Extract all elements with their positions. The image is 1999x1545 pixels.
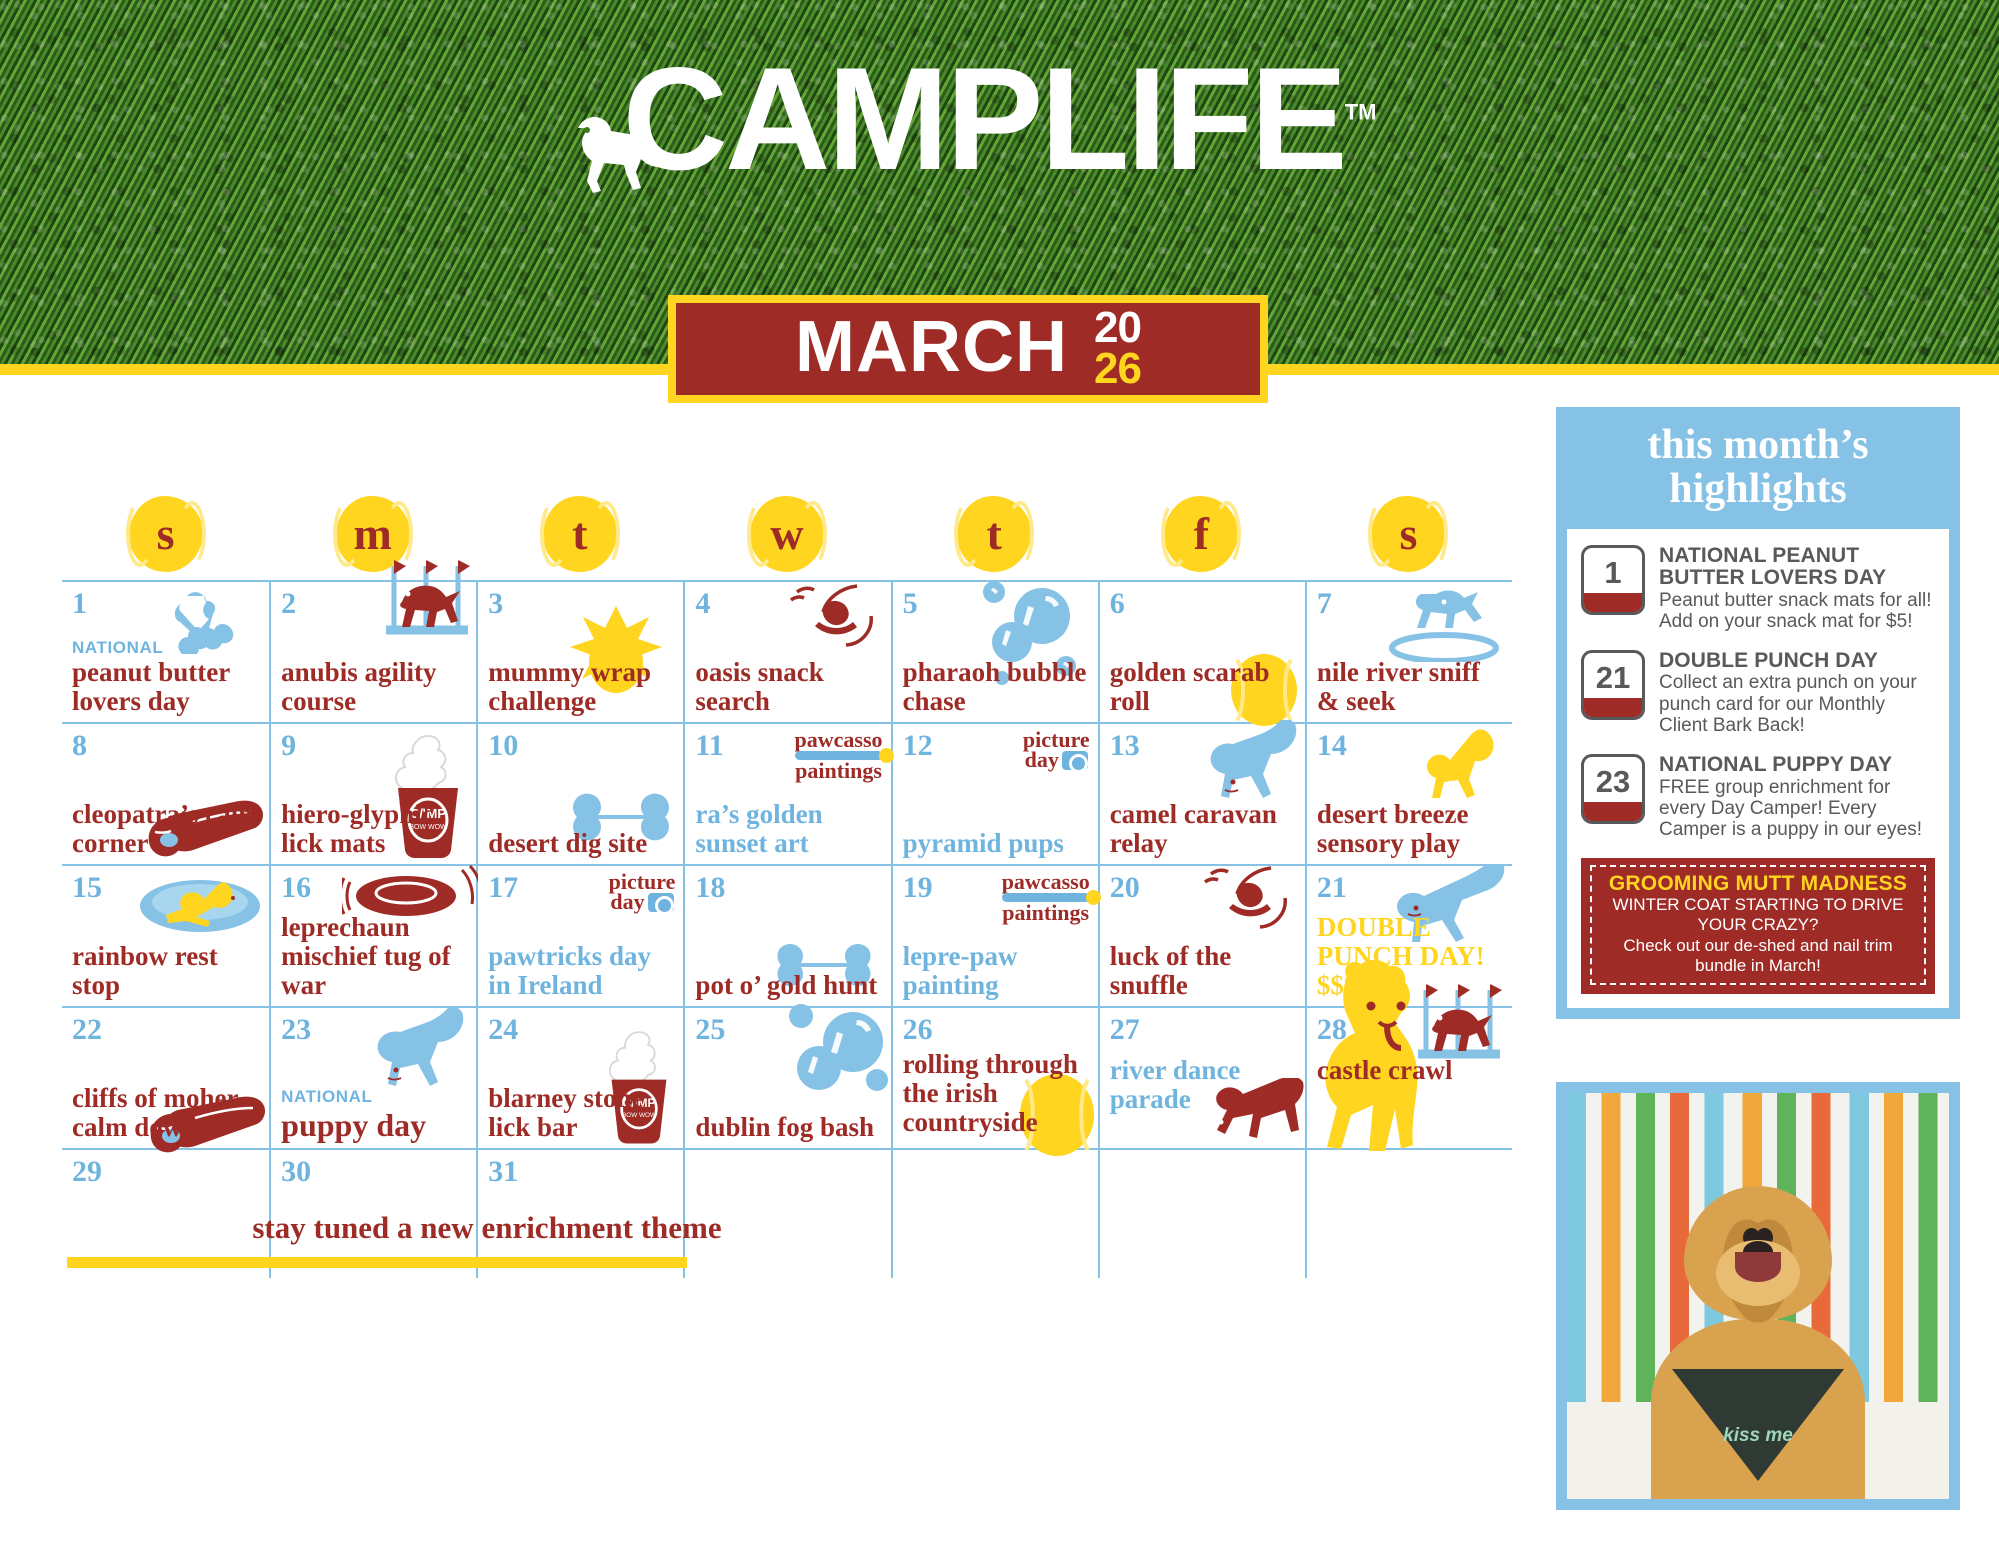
day-event-text: anubis agility course xyxy=(281,658,470,716)
footer-gold-bar xyxy=(67,1257,687,1268)
day-cell-27[interactable]: 27 river dance parade xyxy=(1098,1008,1305,1148)
badge-word-bottom: day xyxy=(609,892,676,912)
day-event-title: peanut butter lovers day xyxy=(72,657,230,716)
dog-mouth xyxy=(1735,1252,1781,1282)
badge-word-bottom: paintings xyxy=(795,758,882,783)
day-event-title: puppy day xyxy=(281,1107,426,1143)
tennis-ball-icon: s xyxy=(1371,496,1445,572)
day-number: 1 xyxy=(72,589,259,619)
day-number: 14 xyxy=(1317,731,1502,761)
camera-icon xyxy=(1062,751,1088,770)
day-event-text: cliffs of moher calm down xyxy=(72,1084,263,1142)
footer-note: stay tuned a new enrichment theme xyxy=(177,1210,797,1246)
brand-logo-text: CAMPLIFE xyxy=(623,37,1345,200)
day-cell-1[interactable]: 1 NATIONALpeanut butter lovers day xyxy=(62,582,269,722)
day-number: 10 xyxy=(488,731,673,761)
highlight-description: FREE group enrichment for every Day Camp… xyxy=(1659,777,1935,841)
puppy-photo: kiss me xyxy=(1556,1082,1960,1510)
highlight-item[interactable]: 21 DOUBLE PUNCH DAY Collect an extra pun… xyxy=(1581,650,1935,736)
day-cell-26[interactable]: 26 rolling through the irish countryside xyxy=(891,1008,1098,1148)
highlight-date-number: 1 xyxy=(1604,557,1621,588)
day-number: 6 xyxy=(1110,589,1295,619)
day-number: 20 xyxy=(1110,873,1295,903)
day-number: 13 xyxy=(1110,731,1295,761)
badge-word-top: pawcasso xyxy=(795,727,883,752)
day-number: 31 xyxy=(488,1157,673,1187)
day-event-text: pot o’ gold hunt xyxy=(695,971,884,1000)
day-event-text: pyramid pups xyxy=(903,829,1092,858)
day-event-text: blarney stone lick bar xyxy=(488,1084,677,1142)
day-number: 22 xyxy=(72,1015,259,1045)
day-number: 2 xyxy=(281,589,466,619)
day-number: 25 xyxy=(695,1015,880,1045)
highlight-heading: DOUBLE PUNCH DAY xyxy=(1659,650,1935,672)
highlight-text: DOUBLE PUNCH DAY Collect an extra punch … xyxy=(1659,650,1935,736)
day-cell-3[interactable]: 3 mummy wrap challenge xyxy=(476,582,683,722)
promo-title: GROOMING MUTT MADNESS xyxy=(1599,872,1917,895)
day-cell-empty xyxy=(891,1150,1098,1278)
day-event-text: NATIONALpeanut butter lovers day xyxy=(72,639,263,716)
highlight-date-number: 21 xyxy=(1596,662,1630,693)
day-number: 29 xyxy=(72,1157,259,1187)
day-event-text: castle crawl xyxy=(1317,1056,1506,1085)
highlight-description: Collect an extra punch on your punch car… xyxy=(1659,672,1935,736)
weekday-header-row: s m t w t f s xyxy=(62,488,1512,580)
highlights-title: this month’s highlights xyxy=(1556,407,1960,529)
badge-word-top: pawcasso xyxy=(1002,869,1090,894)
highlight-text: NATIONAL PEANUT BUTTER LOVERS DAY Peanut… xyxy=(1659,545,1935,632)
month-label: MARCH xyxy=(795,311,1068,387)
day-number: 21 xyxy=(1317,873,1502,903)
day-event-text: hiero-glyphic lick mats xyxy=(281,800,470,858)
day-event-text: lepre-paw painting xyxy=(903,942,1092,1000)
highlight-heading: NATIONAL PEANUT BUTTER LOVERS DAY xyxy=(1659,545,1935,590)
month-banner: MARCH 20 26 xyxy=(668,295,1268,403)
day-number: 15 xyxy=(72,873,259,903)
tennis-ball-icon: t xyxy=(543,496,617,572)
day-event-text: dublin fog bash xyxy=(695,1113,884,1142)
day-number: 27 xyxy=(1110,1015,1295,1045)
day-cell-6[interactable]: 6 golden scarab roll xyxy=(1098,582,1305,722)
highlight-date-badge: 1 xyxy=(1581,545,1645,615)
tennis-ball-icon: w xyxy=(750,496,824,572)
day-cell-empty xyxy=(1098,1150,1305,1278)
photo-backdrop: kiss me xyxy=(1567,1093,1949,1499)
day-cell-22[interactable]: 22 cliffs of moher calm down xyxy=(62,1008,269,1148)
calendar-weeks: 1 NATIONALpeanut butter lovers day 2 anu… xyxy=(62,580,1512,1278)
day-event-text: camel caravan relay xyxy=(1110,800,1299,858)
dog-head xyxy=(1684,1186,1832,1320)
day-cell-25[interactable]: 25 dublin fog bash xyxy=(683,1008,890,1148)
day-event-text: rolling through the irish countryside xyxy=(903,1050,1092,1137)
weekday-friday: f xyxy=(1098,488,1305,580)
tennis-ball-icon: t xyxy=(957,496,1031,572)
day-cell-18[interactable]: 18 pot o’ gold hunt xyxy=(683,866,890,1006)
day-event-text: pawtricks day in Ireland xyxy=(488,942,677,1000)
day-event-text: mummy wrap challenge xyxy=(488,658,677,716)
highlight-text: NATIONAL PUPPY DAY FREE group enrichment… xyxy=(1659,754,1935,840)
day-event-text: river dance parade xyxy=(1110,1056,1299,1114)
day-event-text: desert breeze sensory play xyxy=(1317,800,1506,858)
picture-day-badge: picture day xyxy=(609,872,676,912)
day-event-text: NATIONALpuppy day xyxy=(281,1088,470,1142)
promo-line-2: Check out our de-shed and nail trim bund… xyxy=(1599,936,1917,976)
highlight-description: Peanut butter snack mats for all! Add on… xyxy=(1659,590,1935,633)
highlight-heading: NATIONAL PUPPY DAY xyxy=(1659,754,1935,776)
day-number: 5 xyxy=(903,589,1088,619)
day-number: 7 xyxy=(1317,589,1502,619)
day-cell-21[interactable]: 21 DOUBLE PUNCH DAY! $$$ xyxy=(1305,866,1512,1006)
day-cell-16[interactable]: 16 leprechaun mischief tug of war xyxy=(269,866,476,1006)
pawcasso-paintings-badge: pawcasso paintings xyxy=(1002,872,1090,923)
day-event-text: DOUBLE PUNCH DAY! $$$ xyxy=(1317,913,1506,1000)
day-number: 8 xyxy=(72,731,259,761)
day-cell-12[interactable]: 12 picture day pyramid pups xyxy=(891,724,1098,864)
calendar-week-row: 8 cleopatra’s calm corner 9 C/\MPBOW WOW… xyxy=(62,724,1512,866)
calendar-week-row: 1 NATIONALpeanut butter lovers day 2 anu… xyxy=(62,582,1512,724)
paintbrush-icon xyxy=(1002,893,1090,902)
tennis-ball-icon: s xyxy=(129,496,203,572)
day-cell-9[interactable]: 9 C/\MPBOW WOW hiero-glyphic lick mats xyxy=(269,724,476,864)
weekday-thursday: t xyxy=(891,488,1098,580)
day-event-text: oasis snack search xyxy=(695,658,884,716)
calendar-week-row: 15 rainbow rest stop 16 leprechaun misch… xyxy=(62,866,1512,1008)
day-cell-13[interactable]: 13 camel caravan relay xyxy=(1098,724,1305,864)
day-number: 3 xyxy=(488,589,673,619)
highlight-item[interactable]: 1 NATIONAL PEANUT BUTTER LOVERS DAY Pean… xyxy=(1581,545,1935,632)
day-event-text: pharaoh bubble chase xyxy=(903,658,1092,716)
highlight-date-badge: 21 xyxy=(1581,650,1645,720)
picture-day-badge: picture day xyxy=(1023,730,1090,770)
day-cell-4[interactable]: 4 oasis snack search xyxy=(683,582,890,722)
header-banner: CAMPLIFETM MARCH 20 26 xyxy=(0,0,1999,375)
brand-logo: CAMPLIFETM xyxy=(0,46,1999,192)
grooming-promo-box[interactable]: GROOMING MUTT MADNESS WINTER COAT STARTI… xyxy=(1581,858,1935,993)
day-cell-23[interactable]: 23 NATIONALpuppy day xyxy=(269,1008,476,1148)
day-event-text: golden scarab roll xyxy=(1110,658,1299,716)
weekday-saturday: s xyxy=(1305,488,1512,580)
day-cell-20[interactable]: 20 luck of the snuffle xyxy=(1098,866,1305,1006)
day-cell-14[interactable]: 14 desert breeze sensory play xyxy=(1305,724,1512,864)
badge-word-bottom: paintings xyxy=(1002,900,1089,925)
weekday-wednesday: w xyxy=(683,488,890,580)
day-cell-7[interactable]: 7 nile river sniff & seek xyxy=(1305,582,1512,722)
highlight-date-badge: 23 xyxy=(1581,754,1645,824)
year-century: 20 xyxy=(1094,308,1141,349)
day-number: 26 xyxy=(903,1015,1088,1045)
day-number: 30 xyxy=(281,1157,466,1187)
highlights-sidebar: this month’s highlights 1 NATIONAL PEANU… xyxy=(1556,407,1960,1019)
running-dog-logo-icon xyxy=(560,108,680,200)
day-event-text: nile river sniff & seek xyxy=(1317,658,1506,716)
badge-word-bottom: day xyxy=(1023,750,1090,770)
day-cell-10[interactable]: 10 desert dig site xyxy=(476,724,683,864)
day-cell-empty xyxy=(1305,1150,1512,1278)
day-event-text: luck of the snuffle xyxy=(1110,942,1299,1000)
day-event-prefix: NATIONAL xyxy=(281,1088,470,1107)
day-number: 23 xyxy=(281,1015,466,1045)
day-cell-5[interactable]: 5 pharaoh bubble chase xyxy=(891,582,1098,722)
day-number: 4 xyxy=(695,589,880,619)
year-label: 20 26 xyxy=(1094,308,1141,390)
calendar-grid: s m t w t f s 1 NATIONALpeanut butter lo… xyxy=(62,488,1512,1278)
day-number: 16 xyxy=(281,873,466,903)
weekday-sunday: s xyxy=(62,488,269,580)
day-event-text: leprechaun mischief tug of war xyxy=(281,913,470,1000)
promo-line-1: WINTER COAT STARTING TO DRIVE YOUR CRAZY… xyxy=(1599,895,1917,935)
paintbrush-icon xyxy=(795,751,883,760)
trademark-symbol: TM xyxy=(1345,99,1377,124)
day-number: 9 xyxy=(281,731,466,761)
camera-icon xyxy=(648,893,674,912)
day-number: 18 xyxy=(695,873,880,903)
day-event-text: desert dig site xyxy=(488,829,677,858)
year-decade: 26 xyxy=(1094,349,1141,390)
day-cell-2[interactable]: 2 anubis agility course xyxy=(269,582,476,722)
day-number: 24 xyxy=(488,1015,673,1045)
bandana-caption: kiss me xyxy=(1723,1426,1793,1447)
day-event-text: rainbow rest stop xyxy=(72,942,263,1000)
day-cell-24[interactable]: 24 C/\MPBOW WOW blarney stone lick bar xyxy=(476,1008,683,1148)
highlights-list: 1 NATIONAL PEANUT BUTTER LOVERS DAY Pean… xyxy=(1567,529,1949,1007)
day-cell-15[interactable]: 15 rainbow rest stop xyxy=(62,866,269,1006)
day-cell-11[interactable]: 11 pawcasso paintings ra’s golden sunset… xyxy=(683,724,890,864)
day-number: 28 xyxy=(1317,1015,1502,1045)
day-event-text: cleopatra’s calm corner xyxy=(72,800,263,858)
pawcasso-paintings-badge: pawcasso paintings xyxy=(795,730,883,781)
grooming-promo-inner: GROOMING MUTT MADNESS WINTER COAT STARTI… xyxy=(1590,865,1926,984)
weekday-tuesday: t xyxy=(476,488,683,580)
highlight-date-number: 23 xyxy=(1596,766,1630,797)
day-event-text: ra’s golden sunset art xyxy=(695,800,884,858)
day-cell-8[interactable]: 8 cleopatra’s calm corner xyxy=(62,724,269,864)
tennis-ball-icon: f xyxy=(1164,496,1238,572)
day-event-prefix: NATIONAL xyxy=(72,639,263,658)
day-cell-19[interactable]: 19 pawcasso paintings lepre-paw painting xyxy=(891,866,1098,1006)
day-cell-17[interactable]: 17 picture day pawtricks day in Ireland xyxy=(476,866,683,1006)
highlight-item[interactable]: 23 NATIONAL PUPPY DAY FREE group enrichm… xyxy=(1581,754,1935,840)
